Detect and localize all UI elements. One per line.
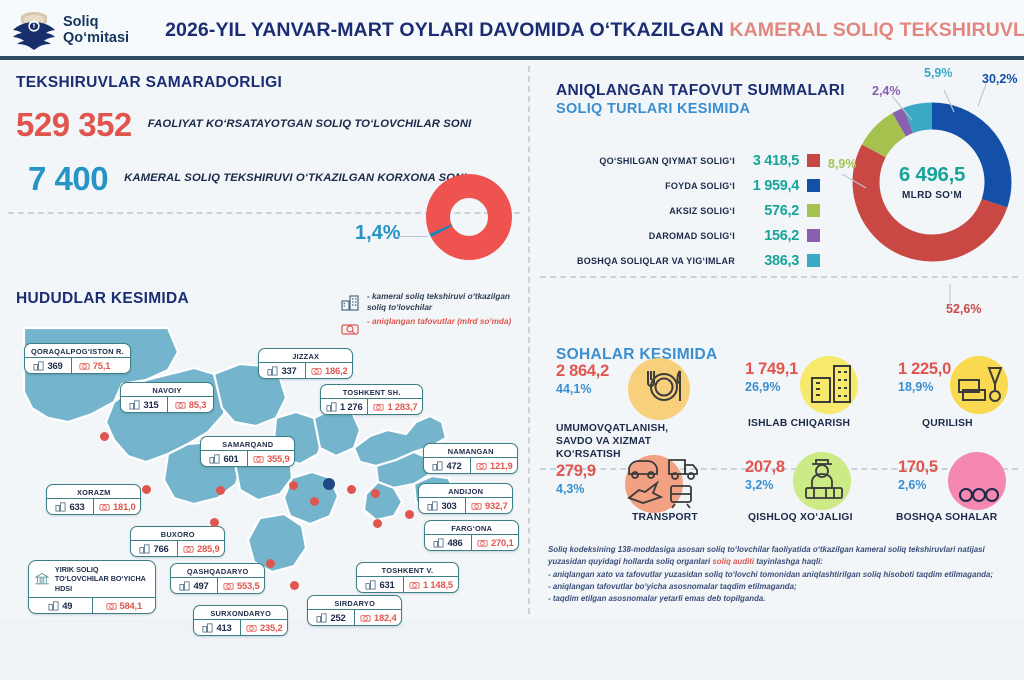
audit-icon bbox=[471, 500, 482, 511]
region-name: NAMANGAN bbox=[424, 444, 517, 457]
region-name: NAVOIY bbox=[121, 383, 213, 396]
region-count: 631 bbox=[379, 579, 394, 590]
sector-percent: 44,1% bbox=[556, 382, 626, 396]
legend-text-audited: - kameral soliq tekshiruvi o‘tkazilgan s… bbox=[367, 292, 520, 313]
page-header: Soliq Qo‘mitasi 2026-YIL YANVAR-MART OYL… bbox=[0, 0, 1024, 60]
hdsi-amount: 584,1 bbox=[120, 600, 142, 611]
tax-type-value: 386,3 bbox=[743, 253, 799, 269]
region-amount-cell: 1 148,5 bbox=[403, 577, 458, 592]
region-amount: 181,0 bbox=[113, 501, 135, 512]
factory-icon bbox=[48, 600, 59, 611]
stat-value-taxpayers: 529 352 bbox=[16, 106, 132, 144]
tax-type-row-vat[interactable]: QO‘SHILGAN QIYMAT SOLIG‘I 3 418,5 bbox=[540, 148, 820, 173]
region-name: JIZZAX bbox=[259, 349, 352, 362]
factory-icon bbox=[179, 580, 190, 591]
tax-type-row-other[interactable]: BOSHQA SOLIQLAR VA YIG‘IMLAR 386,3 bbox=[540, 248, 820, 273]
map-dot-surxondaryo bbox=[290, 581, 299, 590]
sector-value: 170,5 bbox=[898, 458, 958, 477]
factory-icon bbox=[209, 453, 220, 464]
region-name: ANDIJON bbox=[419, 484, 512, 497]
map-dot-toshkent-shahar bbox=[323, 478, 335, 490]
region-count-cell: 633 bbox=[47, 499, 93, 514]
hdsi-card[interactable]: YIRIK SOLIQ TO‘LOVCHILAR BO‘YICHA HDSI 4… bbox=[28, 560, 156, 614]
stat-label-taxpayers: FAOLIYAT KO‘RSATAYOTGAN SOLIQ TO‘LOVCHIL… bbox=[148, 117, 472, 132]
region-count-cell: 1 276 bbox=[321, 399, 367, 414]
sector-food-values: 2 864,2 44,1% bbox=[556, 362, 626, 396]
map-dot-qashqadaryo bbox=[266, 559, 275, 568]
region-pill-fargona[interactable]: FARG‘ONA 486 270,1 bbox=[424, 520, 519, 551]
audit-icon bbox=[253, 453, 264, 464]
tax-type-name: QO‘SHILGAN QIYMAT SOLIG‘I bbox=[540, 156, 735, 166]
factory-icon bbox=[427, 500, 438, 511]
hdsi-count: 49 bbox=[62, 600, 72, 611]
sector-percent: 3,2% bbox=[745, 478, 805, 492]
factory-icon bbox=[33, 360, 44, 371]
region-amount-cell: 285,9 bbox=[177, 541, 224, 556]
tax-type-row-income[interactable]: DAROMAD SOLIG‘I 156,2 bbox=[540, 223, 820, 248]
audit-icon bbox=[183, 543, 194, 554]
page-title-main: 2026-YIL YANVAR-MART OYLARI DAVOMIDA O‘T… bbox=[165, 19, 724, 41]
factory-icon bbox=[267, 365, 278, 376]
region-amount-cell: 181,0 bbox=[93, 499, 140, 514]
region-count: 601 bbox=[223, 453, 238, 464]
region-pill-buxoro[interactable]: BUXORO 766 285,9 bbox=[130, 526, 225, 557]
region-amount-cell: 182,4 bbox=[354, 610, 401, 625]
footer-line-4: - taqdim etilgan asosnomalar yetarli ema… bbox=[548, 593, 1014, 605]
map-dot-toshkent-viloyati bbox=[347, 485, 356, 494]
region-count-cell: 631 bbox=[357, 577, 403, 592]
factory-icon bbox=[139, 543, 150, 554]
map-dot-namangan bbox=[371, 489, 380, 498]
tax-type-swatch bbox=[807, 179, 820, 192]
factory-icon bbox=[202, 622, 213, 633]
sector-name-manufacturing: ISHLAB CHIQARISH bbox=[748, 417, 878, 430]
region-count-cell: 472 bbox=[424, 458, 470, 473]
audit-icon bbox=[476, 460, 487, 471]
region-count-cell: 497 bbox=[171, 578, 217, 593]
region-pill-surxondaryo[interactable]: SURXONDARYO 413 235,2 bbox=[193, 605, 288, 636]
region-count: 337 bbox=[281, 365, 296, 376]
region-amount-cell: 355,9 bbox=[247, 451, 294, 466]
sector-percent: 2,6% bbox=[898, 478, 958, 492]
region-pill-namangan[interactable]: NAMANGAN 472 121,9 bbox=[423, 443, 518, 474]
page-title: 2026-YIL YANVAR-MART OYLARI DAVOMIDA O‘T… bbox=[165, 19, 1024, 42]
farmer-icon bbox=[800, 452, 852, 504]
efficiency-donut-chart bbox=[424, 172, 514, 262]
sector-percent: 4,3% bbox=[556, 482, 616, 496]
sector-value: 279,9 bbox=[556, 462, 616, 481]
region-count: 633 bbox=[69, 501, 84, 512]
tax-type-name: DAROMAD SOLIG‘I bbox=[540, 231, 735, 241]
sector-name-transport: TRANSPORT bbox=[632, 511, 732, 524]
region-amount: 121,9 bbox=[490, 460, 512, 471]
region-pill-sirdaryo[interactable]: SIRDARYO 252 182,4 bbox=[307, 595, 402, 626]
region-count: 252 bbox=[330, 612, 345, 623]
region-amount-cell: 270,1 bbox=[471, 535, 518, 550]
region-pill-navoiy[interactable]: NAVOIY 315 85,3 bbox=[120, 382, 214, 413]
left-column: TEKSHIRUVLAR SAMARADORLIGI 529 352 FAOLI… bbox=[0, 60, 528, 620]
region-name: FARG‘ONA bbox=[425, 521, 518, 534]
stat-row-taxpayers: 529 352 FAOLIYAT KO‘RSATAYOTGAN SOLIQ TO… bbox=[16, 106, 471, 144]
region-name: SIRDARYO bbox=[308, 596, 401, 609]
hdsi-count-cell: 49 bbox=[29, 598, 92, 613]
transport-icon bbox=[625, 452, 705, 512]
tax-type-name: BOSHQA SOLIQLAR VA YIG‘IMLAR bbox=[540, 256, 735, 266]
region-name: QORAQALPOG‘ISTON R. bbox=[25, 344, 130, 357]
tax-type-value: 1 959,4 bbox=[743, 178, 799, 194]
audit-icon bbox=[409, 579, 420, 590]
tax-type-row-profit[interactable]: FOYDA SOLIG‘I 1 959,4 bbox=[540, 173, 820, 198]
factory-icon bbox=[326, 401, 337, 412]
brand-line-2: Qo‘mitasi bbox=[63, 30, 129, 46]
factory-icon bbox=[432, 460, 443, 471]
brand-logo: Soliq Qo‘mitasi bbox=[12, 9, 129, 51]
footer-line-2: - aniqlangan xato va tafovutlar yuzasida… bbox=[548, 569, 1014, 581]
donut-leader-lines bbox=[826, 62, 1024, 322]
region-count-cell: 315 bbox=[121, 397, 167, 412]
tax-type-name: AKSIZ SOLIG‘I bbox=[540, 206, 735, 216]
sector-name-agriculture: QISHLOQ XO‘JALIGI bbox=[748, 511, 878, 524]
region-amount-cell: 932,7 bbox=[465, 498, 512, 513]
region-amount: 355,9 bbox=[267, 453, 289, 464]
region-amount: 270,1 bbox=[491, 537, 513, 548]
region-pill-qoraqalpogiston[interactable]: QORAQALPOG‘ISTON R. 369 75,1 bbox=[24, 343, 131, 374]
map-dot-fargona bbox=[373, 519, 382, 528]
stat-value-audited: 7 400 bbox=[28, 160, 108, 198]
audit-icon bbox=[246, 622, 257, 633]
sector-agriculture-values: 207,8 3,2% bbox=[745, 458, 805, 492]
audit-icon bbox=[79, 360, 90, 371]
region-count: 315 bbox=[143, 399, 158, 410]
tax-type-value: 156,2 bbox=[743, 228, 799, 244]
tax-types-title: ANIQLANGAN TAFOVUT SUMMALARI bbox=[556, 82, 845, 100]
region-amount: 235,2 bbox=[260, 622, 282, 633]
audit-icon bbox=[311, 365, 322, 376]
region-count-cell: 303 bbox=[419, 498, 465, 513]
region-amount: 1 148,5 bbox=[423, 579, 453, 590]
map-dot-buxoro bbox=[210, 518, 219, 527]
brand-name: Soliq Qo‘mitasi bbox=[63, 14, 129, 46]
stat-label-audited: KAMERAL SOLIQ TEKSHIRUVI O‘TKAZILGAN KOR… bbox=[124, 171, 467, 186]
other-icon bbox=[958, 486, 1000, 504]
tax-type-name: FOYDA SOLIG‘I bbox=[540, 181, 735, 191]
region-count: 369 bbox=[47, 360, 62, 371]
sector-value: 1 225,0 bbox=[898, 360, 958, 379]
efficiency-title: TEKSHIRUVLAR SAMARADORLIGI bbox=[16, 74, 282, 92]
region-pill-andijon[interactable]: ANDIJON 303 932,7 bbox=[418, 483, 513, 514]
map-dot-xorazm bbox=[142, 485, 151, 494]
region-amount: 932,7 bbox=[485, 500, 507, 511]
region-pill-toshkent-shahar[interactable]: TOSHKENT SH. 1 276 1 283,7 bbox=[320, 384, 423, 415]
region-amount: 85,3 bbox=[189, 399, 206, 410]
tax-type-value: 576,2 bbox=[743, 203, 799, 219]
region-amount-cell: 235,2 bbox=[240, 620, 287, 635]
efficiency-leader-line bbox=[398, 236, 428, 237]
stat-row-audited: 7 400 KAMERAL SOLIQ TEKSHIRUVI O‘TKAZILG… bbox=[28, 160, 467, 198]
audit-icon bbox=[223, 580, 234, 591]
sector-construction-values: 1 225,0 18,9% bbox=[898, 360, 958, 394]
region-amount-cell: 85,3 bbox=[167, 397, 213, 412]
footer-line-1b: tayinlashga haqli: bbox=[754, 557, 823, 566]
tax-type-swatch bbox=[807, 254, 820, 267]
tax-types-subtitle: SOLIQ TURLARI KESIMIDA bbox=[556, 101, 750, 117]
region-pill-jizzax[interactable]: JIZZAX 337 186,2 bbox=[258, 348, 353, 379]
region-pill-toshkent-viloyati[interactable]: TOSHKENT V. 631 1 148,5 bbox=[356, 562, 459, 593]
region-count-cell: 337 bbox=[259, 363, 305, 378]
factory-icon bbox=[55, 501, 66, 512]
region-pill-samarqand[interactable]: SAMARQAND 601 355,9 bbox=[200, 436, 295, 467]
region-amount: 75,1 bbox=[93, 360, 110, 371]
region-pill-xorazm[interactable]: XORAZM 633 181,0 bbox=[46, 484, 141, 515]
region-count-cell: 486 bbox=[425, 535, 471, 550]
sector-transport-values: 279,9 4,3% bbox=[556, 462, 616, 496]
crane-icon bbox=[955, 360, 1007, 408]
region-amount: 553,5 bbox=[237, 580, 259, 591]
region-name: SAMARQAND bbox=[201, 437, 294, 450]
region-name: SURXONDARYO bbox=[194, 606, 287, 619]
region-count-cell: 413 bbox=[194, 620, 240, 635]
footer-note: Soliq kodeksining 138-moddasiga asosan s… bbox=[548, 544, 1014, 605]
region-count: 413 bbox=[216, 622, 231, 633]
region-amount: 1 283,7 bbox=[387, 401, 417, 412]
efficiency-percent-label: 1,4% bbox=[355, 222, 401, 245]
map-dot-navoiy bbox=[100, 432, 109, 441]
page-title-accent: KAMERAL SOLIQ TEKSHIRUVLARI bbox=[729, 19, 1024, 41]
audit-icon bbox=[99, 501, 110, 512]
tax-type-value: 3 418,5 bbox=[743, 153, 799, 169]
audit-icon bbox=[360, 612, 371, 623]
audit-icon bbox=[106, 600, 117, 611]
region-count: 766 bbox=[153, 543, 168, 554]
tax-type-row-excise[interactable]: AKSIZ SOLIG‘I 576,2 bbox=[540, 198, 820, 223]
region-amount: 182,4 bbox=[374, 612, 396, 623]
infographic-page: Soliq Qo‘mitasi 2026-YIL YANVAR-MART OYL… bbox=[0, 0, 1024, 620]
region-amount-cell: 121,9 bbox=[470, 458, 517, 473]
regions-title: HUDUDLAR KESIMIDA bbox=[16, 290, 189, 308]
region-amount-cell: 75,1 bbox=[71, 358, 117, 373]
audit-icon bbox=[175, 399, 186, 410]
sector-percent: 26,9% bbox=[745, 380, 805, 394]
audit-icon bbox=[477, 537, 488, 548]
brand-line-1: Soliq bbox=[63, 14, 129, 30]
region-name: QASHQADARYO bbox=[171, 564, 264, 577]
region-count: 486 bbox=[447, 537, 462, 548]
bank-icon bbox=[34, 568, 50, 590]
sector-other-values: 170,5 2,6% bbox=[898, 458, 958, 492]
region-count-cell: 369 bbox=[25, 358, 71, 373]
tax-types-legend: QO‘SHILGAN QIYMAT SOLIG‘I 3 418,5 FOYDA … bbox=[540, 148, 820, 273]
region-name: TOSHKENT V. bbox=[357, 563, 458, 576]
region-name: BUXORO bbox=[131, 527, 224, 540]
map-dot-sirdaryo bbox=[310, 497, 319, 506]
hdsi-label: YIRIK SOLIQ TO‘LOVCHILAR BO‘YICHA HDSI bbox=[55, 565, 150, 593]
hdsi-values: 49 584,1 bbox=[29, 597, 155, 613]
legend-row-audited: - kameral soliq tekshiruvi o‘tkazilgan s… bbox=[340, 292, 520, 313]
factory-icon bbox=[433, 537, 444, 548]
region-amount-cell: 553,5 bbox=[217, 578, 264, 593]
hdsi-amount-cell: 584,1 bbox=[92, 598, 156, 613]
map-dot-samarqand bbox=[216, 486, 225, 495]
tax-type-swatch bbox=[807, 154, 820, 167]
tax-type-swatch bbox=[807, 229, 820, 242]
region-amount-cell: 1 283,7 bbox=[367, 399, 422, 414]
region-pill-qashqadaryo[interactable]: QASHQADARYO 497 553,5 bbox=[170, 563, 265, 594]
region-amount: 285,9 bbox=[197, 543, 219, 554]
sector-percent: 18,9% bbox=[898, 380, 958, 394]
region-count: 303 bbox=[441, 500, 456, 511]
factory-icon bbox=[808, 360, 858, 408]
region-count-cell: 766 bbox=[131, 541, 177, 556]
hdsi-header: YIRIK SOLIQ TO‘LOVCHILAR BO‘YICHA HDSI bbox=[29, 561, 155, 597]
map-dot-jizzax bbox=[289, 481, 298, 490]
factory-icon bbox=[340, 292, 362, 312]
factory-icon bbox=[316, 612, 327, 623]
map-dot-andijon bbox=[405, 510, 414, 519]
region-count: 1 276 bbox=[340, 401, 362, 412]
region-name: XORAZM bbox=[47, 485, 140, 498]
footer-highlight: soliq auditi bbox=[712, 557, 754, 566]
eagle-logo-icon bbox=[12, 9, 56, 51]
region-amount: 186,2 bbox=[325, 365, 347, 376]
sector-name-other: BOSHQA SOHALAR bbox=[896, 511, 1024, 524]
sector-name-construction: QURILISH bbox=[922, 417, 1022, 430]
footer-line-3: - aniqlangan tafovutlar bo‘yicha asosnom… bbox=[548, 581, 1014, 593]
region-count-cell: 601 bbox=[201, 451, 247, 466]
sector-value: 1 749,1 bbox=[745, 360, 805, 379]
sector-manufacturing-values: 1 749,1 26,9% bbox=[745, 360, 805, 394]
tax-type-swatch bbox=[807, 204, 820, 217]
factory-icon bbox=[365, 579, 376, 590]
region-count-cell: 252 bbox=[308, 610, 354, 625]
sector-value: 2 864,2 bbox=[556, 362, 626, 381]
restaurant-icon bbox=[636, 362, 692, 412]
factory-icon bbox=[129, 399, 140, 410]
region-amount-cell: 186,2 bbox=[305, 363, 352, 378]
region-count: 497 bbox=[193, 580, 208, 591]
sector-value: 207,8 bbox=[745, 458, 805, 477]
region-count: 472 bbox=[446, 460, 461, 471]
region-name: TOSHKENT SH. bbox=[321, 385, 422, 398]
audit-icon bbox=[373, 401, 384, 412]
